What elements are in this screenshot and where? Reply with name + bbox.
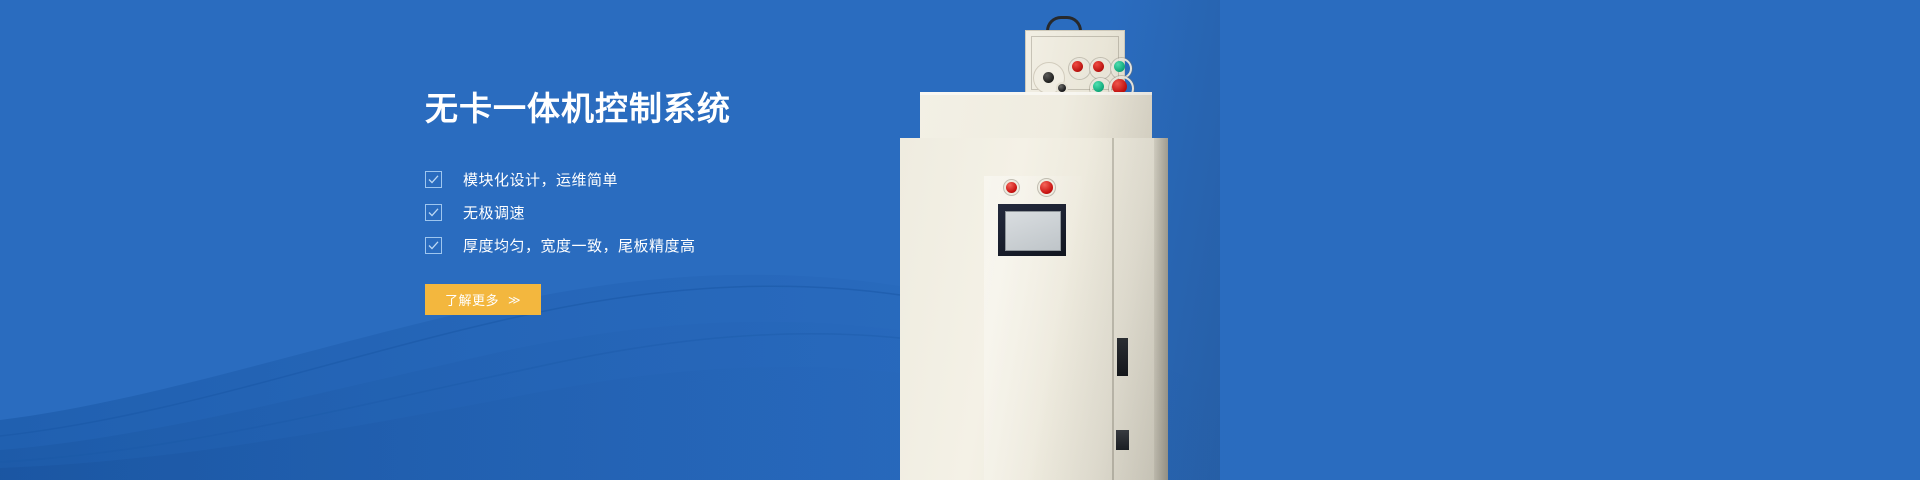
feature-item-1: 模块化设计，运维简单 [425,163,945,196]
reset-button[interactable] [1093,81,1104,92]
chevron-right-icon: ≫ [508,293,521,307]
page-title: 无卡一体机控制系统 [425,88,945,129]
door-lock-strip [1117,338,1128,376]
power-indicator[interactable] [1006,182,1017,193]
cabinet-door-seam [1112,138,1114,480]
start-button[interactable] [1093,61,1104,72]
feature-label: 模块化设计，运维简单 [463,169,618,190]
feature-list: 模块化设计，运维简单 无极调速 厚度均匀，宽度一致，尾板精度高 [425,163,945,262]
mode-selector[interactable] [1043,72,1054,83]
checkbox-check-icon [425,204,442,221]
product-photo [880,0,1220,480]
cabinet-collar [920,92,1152,140]
hero-banner: 无卡一体机控制系统 模块化设计，运维简单 无极调速 [0,0,1920,480]
feature-item-3: 厚度均匀，宽度一致，尾板精度高 [425,229,945,262]
door-handle [1116,430,1129,450]
feature-label: 无极调速 [463,202,525,223]
toggle-switch[interactable] [1058,84,1066,92]
alarm-indicator[interactable] [1040,181,1053,194]
hero-copy: 无卡一体机控制系统 模块化设计，运维简单 无极调速 [425,88,945,315]
run-indicator[interactable] [1114,61,1125,72]
feature-item-2: 无极调速 [425,196,945,229]
learn-more-button[interactable]: 了解更多 ≫ [425,284,541,315]
learn-more-label: 了解更多 [445,290,499,309]
feature-label: 厚度均匀，宽度一致，尾板精度高 [463,235,696,256]
emergency-stop-button[interactable] [1072,61,1083,72]
checkbox-check-icon [425,171,442,188]
touch-screen[interactable] [1005,211,1061,251]
checkbox-check-icon [425,237,442,254]
